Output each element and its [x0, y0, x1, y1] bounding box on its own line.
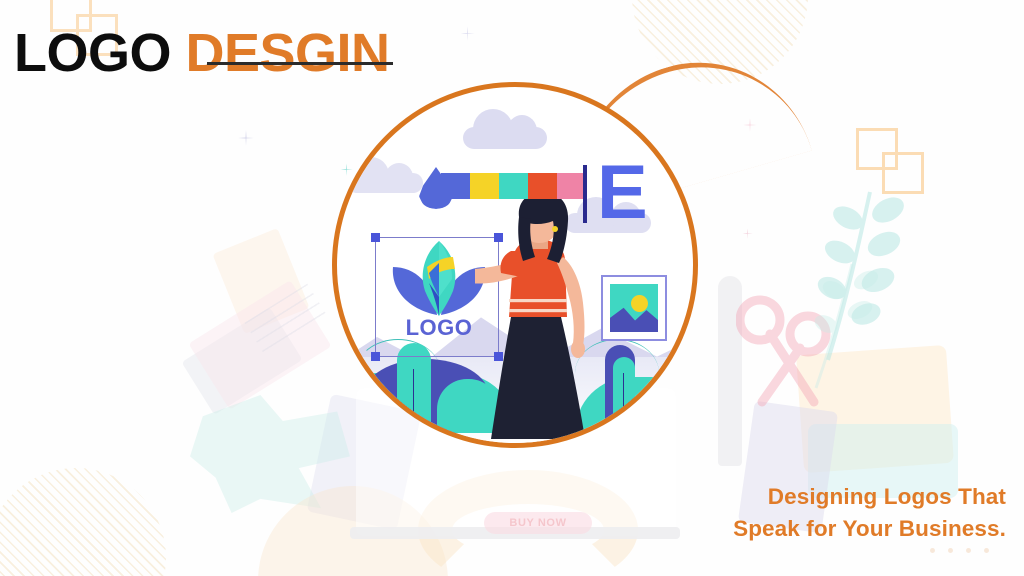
gray-bar-divider: [350, 527, 680, 539]
sun-icon: [631, 295, 648, 312]
swatch-4[interactable]: [557, 173, 586, 199]
cloud-icon: [463, 127, 547, 149]
cloud-icon: [347, 173, 423, 193]
color-palette-swatches[interactable]: [441, 173, 586, 199]
woman-designer-illustration: [475, 199, 605, 448]
swatch-3[interactable]: [528, 173, 557, 199]
sparkle-icon: [460, 26, 475, 41]
peach-arch-icon: [258, 486, 448, 576]
logo-wordmark: LOGO: [389, 315, 489, 341]
striped-circle-bottom-icon: [0, 468, 166, 576]
sparkle-icon: [742, 228, 753, 239]
resize-handle-top-left[interactable]: [371, 233, 380, 242]
book-lines-icon: [244, 284, 329, 359]
title-word-logo: LOGO: [14, 23, 171, 83]
resize-handle-bottom-left[interactable]: [371, 352, 380, 361]
bush-icon: [613, 357, 635, 433]
gray-tube-icon: [718, 276, 742, 466]
sparkle-icon: [238, 130, 254, 146]
swatch-0[interactable]: [441, 173, 470, 199]
striped-circle-top-icon: [632, 0, 808, 84]
title-underline: [207, 62, 393, 65]
sparkle-icon: [743, 118, 757, 132]
swatch-2[interactable]: [499, 173, 528, 199]
peach-card-right-icon: [796, 345, 954, 473]
peach-ring-icon: [418, 470, 638, 576]
teal-leaf-icon: [190, 395, 350, 513]
poster-canvas: BUY NOW LOGO DESGIN: [0, 0, 1024, 576]
image-placeholder-icon[interactable]: [601, 275, 667, 341]
twig-icon: [623, 373, 624, 433]
page-title: LOGO DESGIN: [14, 26, 390, 80]
tagline: Designing Logos That Speak for Your Busi…: [733, 481, 1006, 545]
pink-book-icon: [188, 280, 331, 410]
tagline-line-1: Designing Logos That: [733, 481, 1006, 513]
scissors-icon: [736, 290, 832, 410]
swatch-1[interactable]: [470, 173, 499, 199]
twig-icon: [413, 369, 414, 429]
leafy-branch-icon: [800, 188, 920, 368]
peach-card-icon: [212, 228, 309, 334]
title-word-desgin: DESGIN: [186, 23, 390, 83]
leafy-branch-small-icon: [806, 262, 886, 392]
hero-illustration-circle: E: [332, 82, 698, 448]
tagline-line-2: Speak for Your Business.: [733, 513, 1006, 545]
flower-logo-icon[interactable]: [389, 239, 489, 317]
buy-now-button[interactable]: BUY NOW: [484, 512, 592, 534]
gray-book-icon: [181, 307, 302, 415]
dot-row-decoration: [930, 548, 989, 553]
